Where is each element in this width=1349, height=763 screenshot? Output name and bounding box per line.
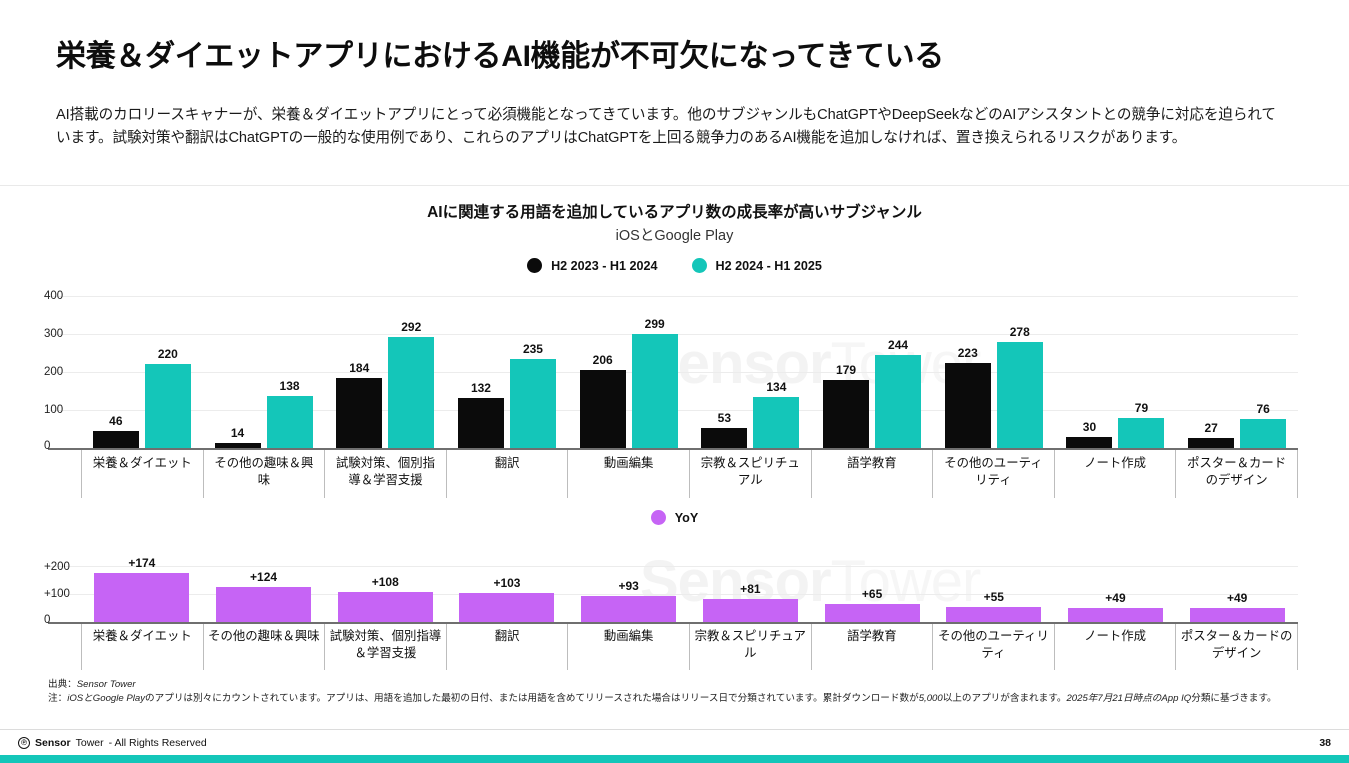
bar-series1[interactable]: 206 xyxy=(580,370,626,448)
bar-series2[interactable]: 79 xyxy=(1118,418,1164,448)
y-tick-100: 100 xyxy=(44,404,63,416)
category-labels-chart-1: 栄養＆ダイエットその他の趣味＆興味試験対策、個別指導＆学習支援翻訳動画編集宗教＆… xyxy=(81,450,1298,498)
footer-brand-bold: Sensor xyxy=(35,737,71,749)
category-label-text: ノート作成 xyxy=(1084,455,1146,472)
category-labels-chart-2: 栄養＆ダイエットその他の趣味＆興味試験対策、個別指導＆学習支援翻訳動画編集宗教＆… xyxy=(81,624,1298,670)
legend-item-yoy[interactable]: YoY xyxy=(651,510,699,525)
category-label-2-text: ポスター＆カードのデザイン xyxy=(1178,628,1296,661)
category-label: 翻訳 xyxy=(446,450,568,498)
bar-value-label-yoy: +65 xyxy=(862,587,882,601)
category-label: ポスター＆カードのデザイン xyxy=(1175,450,1298,498)
bar-series1[interactable]: 223 xyxy=(945,363,991,448)
bar-group-yoy: +93 xyxy=(568,566,690,622)
note-body-3: 分類に基づきます。 xyxy=(1191,693,1276,704)
source-value: Sensor Tower xyxy=(77,679,136,690)
bar-series1[interactable]: 53 xyxy=(701,428,747,448)
bar-yoy[interactable]: +49 xyxy=(1068,608,1163,622)
bar-value-label: 220 xyxy=(158,347,178,361)
category-label-2-text: 翻訳 xyxy=(495,628,520,645)
bar-yoy[interactable]: +103 xyxy=(459,593,554,622)
bar-series1[interactable]: 30 xyxy=(1066,437,1112,448)
bar-value-label: 244 xyxy=(888,338,908,352)
bar-group: 53134 xyxy=(690,296,812,448)
header-section: 栄養＆ダイエットアプリにおけるAI機能が不可欠になってきている AI搭載のカロリ… xyxy=(0,0,1349,186)
bar-yoy[interactable]: +108 xyxy=(338,592,433,622)
chart-plot-area-2: +200 +100 0 +174+124+108+103+93+81+65+55… xyxy=(48,566,1298,622)
bar-yoy[interactable]: +49 xyxy=(1190,608,1285,622)
bar-value-label: 278 xyxy=(1010,325,1030,339)
bar-series2[interactable]: 76 xyxy=(1240,419,1286,448)
bar-series2[interactable]: 220 xyxy=(145,364,191,448)
bar-value-label: 76 xyxy=(1256,402,1269,416)
category-label-2: 宗教＆スピリチュアル xyxy=(689,624,811,670)
note-asof: 2025年7月21日時点のApp IQ xyxy=(1066,693,1191,704)
category-label: 宗教＆スピリチュアル xyxy=(689,450,811,498)
category-label-2-text: その他の趣味＆興味 xyxy=(208,628,320,645)
legend-label-series-2: H2 2024 - H1 2025 xyxy=(716,259,822,273)
bar-group: 46220 xyxy=(81,296,203,448)
chart-plot-area-1: 400 300 200 100 0 4622014138184292132235… xyxy=(48,296,1298,448)
bar-value-label: 292 xyxy=(401,320,421,334)
y2-tick-0: 0 xyxy=(44,614,50,626)
bar-group: 223278 xyxy=(933,296,1055,448)
y-tick-200: 200 xyxy=(44,366,63,378)
bar-group: 2776 xyxy=(1176,296,1298,448)
category-label-2-text: その他のユーティリティ xyxy=(934,628,1052,661)
chart-legend-yoy: YoY xyxy=(0,510,1349,525)
category-label-text: 試験対策、個別指導＆学習支援 xyxy=(331,455,439,488)
bar-group: 3079 xyxy=(1055,296,1177,448)
bar-group-yoy: +108 xyxy=(324,566,446,622)
bar-group: 179244 xyxy=(811,296,933,448)
category-label-text: 栄養＆ダイエット xyxy=(93,455,192,472)
y-tick-400: 400 xyxy=(44,290,63,302)
bar-yoy[interactable]: +124 xyxy=(216,587,311,622)
chart-subtitle: iOSとGoogle Play xyxy=(0,224,1349,245)
footer-brand: ℗ SensorTower - All Rights Reserved xyxy=(18,737,207,749)
bar-value-label: 46 xyxy=(109,414,122,428)
category-label: 動画編集 xyxy=(567,450,689,498)
category-label-2-text: ノート作成 xyxy=(1084,628,1146,645)
category-label-2-text: 宗教＆スピリチュアル xyxy=(691,628,809,661)
category-label-2-text: 語学教育 xyxy=(847,628,897,645)
category-label: ノート作成 xyxy=(1054,450,1176,498)
legend-label-yoy: YoY xyxy=(675,511,699,525)
source-label: 出典： xyxy=(48,679,77,690)
bar-series2[interactable]: 244 xyxy=(875,355,921,448)
bar-value-label: 223 xyxy=(958,346,978,360)
category-label-text: 動画編集 xyxy=(604,455,654,472)
chart-legend: H2 2023 - H1 2024 H2 2024 - H1 2025 xyxy=(0,258,1349,273)
bar-group: 14138 xyxy=(203,296,325,448)
bar-value-label: 206 xyxy=(593,353,613,367)
category-label-2: 動画編集 xyxy=(567,624,689,670)
legend-swatch-purple xyxy=(651,510,666,525)
note-platforms: iOSとGoogle Play xyxy=(67,693,145,704)
bar-group: 184292 xyxy=(324,296,446,448)
y2-tick-plus100: +100 xyxy=(44,588,70,600)
bar-series2[interactable]: 278 xyxy=(997,342,1043,448)
bar-group-yoy: +174 xyxy=(81,566,203,622)
bar-series1[interactable]: 27 xyxy=(1188,438,1234,448)
bar-value-label-yoy: +49 xyxy=(1105,591,1125,605)
bar-yoy[interactable]: +174 xyxy=(94,573,189,622)
category-label-2: その他のユーティリティ xyxy=(932,624,1054,670)
bar-value-label: 132 xyxy=(471,381,491,395)
category-label-2: ノート作成 xyxy=(1054,624,1176,670)
category-label-text: その他の趣味＆興味 xyxy=(210,455,318,488)
bar-groups-chart-1: 4622014138184292132235206299531341792442… xyxy=(81,296,1298,448)
page-title: 栄養＆ダイエットアプリにおけるAI機能が不可欠になってきている xyxy=(56,38,1296,76)
category-label-text: 翻訳 xyxy=(495,455,520,472)
bar-value-label-yoy: +55 xyxy=(984,590,1004,604)
bar-value-label: 138 xyxy=(280,379,300,393)
bar-value-label-yoy: +93 xyxy=(618,579,638,593)
note-body-2: 以上のアプリが含まれます。 xyxy=(943,693,1067,704)
bar-value-label: 179 xyxy=(836,363,856,377)
bar-value-label: 27 xyxy=(1204,421,1217,435)
category-label-2: 試験対策、個別指導＆学習支援 xyxy=(324,624,446,670)
bar-value-label: 14 xyxy=(231,426,244,440)
bar-series1[interactable]: 184 xyxy=(336,378,382,448)
bar-group-yoy: +49 xyxy=(1176,566,1298,622)
bar-series1[interactable]: 179 xyxy=(823,380,869,448)
bar-series2[interactable]: 292 xyxy=(388,337,434,448)
bar-series2[interactable]: 299 xyxy=(632,334,678,448)
bar-value-label: 30 xyxy=(1083,420,1096,434)
y-tick-0: 0 xyxy=(44,440,50,452)
sensor-tower-logo-icon: ℗ xyxy=(18,737,30,749)
bar-series1[interactable]: 46 xyxy=(93,431,139,448)
page-number: 38 xyxy=(1319,737,1331,749)
bar-group-yoy: +65 xyxy=(811,566,933,622)
y2-tick-plus200: +200 xyxy=(44,561,70,573)
category-label-text: ポスター＆カードのデザイン xyxy=(1183,455,1291,488)
bar-yoy[interactable]: +93 xyxy=(581,596,676,622)
bar-group: 132235 xyxy=(446,296,568,448)
legend-label-series-1: H2 2023 - H1 2024 xyxy=(551,259,657,273)
bar-value-label-yoy: +174 xyxy=(128,556,155,570)
category-label-2-text: 栄養＆ダイエット xyxy=(93,628,192,645)
bar-series2[interactable]: 134 xyxy=(753,397,799,448)
y-tick-300: 300 xyxy=(44,328,63,340)
footnotes: 出典：Sensor Tower 注：iOSとGoogle Playのアプリは別々… xyxy=(48,678,1328,706)
bar-group: 206299 xyxy=(568,296,690,448)
category-label: 栄養＆ダイエット xyxy=(81,450,203,498)
bar-value-label: 184 xyxy=(349,361,369,375)
category-label-2: 語学教育 xyxy=(811,624,933,670)
footer-rights: - All Rights Reserved xyxy=(109,737,207,749)
note-line: 注：iOSとGoogle Playのアプリは別々にカウントされています。アプリは… xyxy=(48,692,1328,706)
bar-series1[interactable]: 14 xyxy=(215,443,261,448)
category-label-2: 翻訳 xyxy=(446,624,568,670)
chart-title: AIに関連する用語を追加しているアプリ数の成長率が高いサブジャンル xyxy=(0,200,1349,222)
footer-accent-bar xyxy=(0,755,1349,763)
category-label: その他の趣味＆興味 xyxy=(203,450,325,498)
bar-group-yoy: +81 xyxy=(690,566,812,622)
category-label-2: 栄養＆ダイエット xyxy=(81,624,203,670)
category-label: 試験対策、個別指導＆学習支援 xyxy=(324,450,446,498)
bar-value-label-yoy: +49 xyxy=(1227,591,1247,605)
legend-swatch-black xyxy=(527,258,542,273)
bar-yoy[interactable]: +65 xyxy=(825,604,920,622)
category-label-2: ポスター＆カードのデザイン xyxy=(1175,624,1298,670)
bar-value-label-yoy: +108 xyxy=(372,575,399,589)
bar-series2[interactable]: 138 xyxy=(267,396,313,448)
bar-group-yoy: +103 xyxy=(446,566,568,622)
category-label-text: その他のユーティリティ xyxy=(939,455,1047,488)
bar-value-label: 79 xyxy=(1135,401,1148,415)
source-line: 出典：Sensor Tower xyxy=(48,678,1328,692)
page-footer: ℗ SensorTower - All Rights Reserved 38 xyxy=(0,729,1349,755)
bar-value-label: 235 xyxy=(523,342,543,356)
bar-yoy[interactable]: +55 xyxy=(946,607,1041,622)
note-label: 注： xyxy=(48,693,67,704)
bar-value-label-yoy: +103 xyxy=(493,576,520,590)
bar-series2[interactable]: 235 xyxy=(510,359,556,448)
legend-swatch-teal xyxy=(692,258,707,273)
legend-item-h2-2023[interactable]: H2 2023 - H1 2024 xyxy=(527,258,657,273)
category-label-2-text: 試験対策、個別指導＆学習支援 xyxy=(326,628,444,661)
legend-item-h2-2024[interactable]: H2 2024 - H1 2025 xyxy=(692,258,822,273)
bar-group-yoy: +55 xyxy=(933,566,1055,622)
bar-value-label: 134 xyxy=(766,380,786,394)
category-label: その他のユーティリティ xyxy=(932,450,1054,498)
category-label: 語学教育 xyxy=(811,450,933,498)
bar-series1[interactable]: 132 xyxy=(458,398,504,448)
bar-groups-chart-2: +174+124+108+103+93+81+65+55+49+49 xyxy=(81,566,1298,622)
page-description: AI搭載のカロリースキャナーが、栄養＆ダイエットアプリにとって必須機能となってき… xyxy=(56,104,1288,150)
category-label-2: その他の趣味＆興味 xyxy=(203,624,325,670)
bar-yoy[interactable]: +81 xyxy=(703,599,798,622)
bar-group-yoy: +124 xyxy=(203,566,325,622)
bar-value-label-yoy: +124 xyxy=(250,570,277,584)
category-label-text: 宗教＆スピリチュアル xyxy=(696,455,804,488)
note-body: のアプリは別々にカウントされています。アプリは、用語を追加した最初の日付、または… xyxy=(145,693,919,704)
bar-value-label: 53 xyxy=(718,411,731,425)
category-label-text: 語学教育 xyxy=(847,455,897,472)
note-threshold: 5,000 xyxy=(919,693,943,704)
bar-value-label: 299 xyxy=(645,317,665,331)
bar-group-yoy: +49 xyxy=(1055,566,1177,622)
bar-value-label-yoy: +81 xyxy=(740,582,760,596)
category-label-2-text: 動画編集 xyxy=(604,628,654,645)
footer-brand-light: Tower xyxy=(76,737,104,749)
